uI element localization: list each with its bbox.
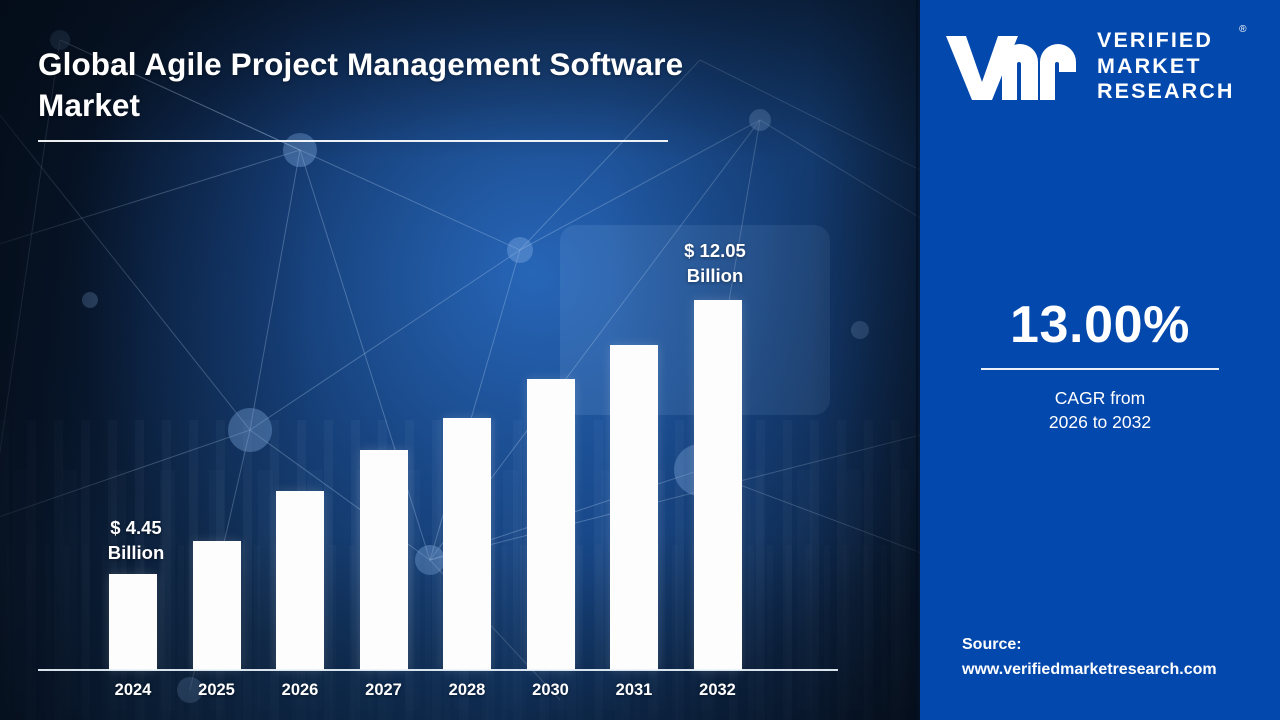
bar-2031	[610, 345, 658, 670]
bar-value-label-last-line1: $ 12.05	[640, 238, 790, 263]
x-axis-tick-2027: 2027	[360, 681, 408, 700]
brand-panel: VERIFIED MARKET RESEARCH ® 13.00% CAGR f…	[920, 0, 1280, 720]
market-infographic: Global Agile Project Management Software…	[0, 0, 1280, 720]
x-axis-tick-2024: 2024	[109, 681, 157, 700]
bar-value-label-first-line2: Billion	[61, 540, 211, 565]
bar-value-label-first-line1: $ 4.45	[61, 515, 211, 540]
brand-logo-line-2: MARKET	[1097, 54, 1234, 80]
bar-2028	[443, 418, 491, 670]
x-axis-tick-2026: 2026	[276, 681, 324, 700]
bar-2027	[360, 450, 408, 670]
registered-trademark-icon: ®	[1239, 25, 1246, 35]
brand-logo[interactable]: VERIFIED MARKET RESEARCH ®	[944, 26, 1262, 105]
bar-value-label-last-line2: Billion	[640, 263, 790, 288]
vmr-monogram-icon	[944, 32, 1084, 104]
bar-2026	[276, 491, 324, 670]
brand-logo-text: VERIFIED MARKET RESEARCH ®	[1097, 26, 1234, 105]
chart-plot-area	[0, 0, 920, 720]
brand-logo-line-1: VERIFIED	[1097, 28, 1234, 54]
source-block: Source: www.verifiedmarketresearch.com	[962, 632, 1262, 682]
cagr-divider	[981, 368, 1219, 370]
chart-panel: Global Agile Project Management Software…	[0, 0, 920, 720]
bar-2030	[527, 379, 575, 670]
x-axis-tick-2032: 2032	[694, 681, 742, 700]
bar-2024	[109, 574, 157, 670]
cagr-value: 13.00%	[920, 296, 1280, 354]
cagr-caption: CAGR from 2026 to 2032	[920, 386, 1280, 434]
brand-logo-line-3: RESEARCH	[1097, 79, 1234, 105]
x-axis-tick-2031: 2031	[610, 681, 658, 700]
bar-2032	[694, 300, 742, 670]
source-url[interactable]: www.verifiedmarketresearch.com	[962, 657, 1262, 682]
x-axis-tick-2030: 2030	[527, 681, 575, 700]
bar-value-label-first: $ 4.45 Billion	[61, 515, 211, 565]
bar-chart: $ 4.45 Billion $ 12.05 Billion 202420252…	[0, 0, 920, 720]
x-axis-line	[38, 669, 838, 671]
x-axis-tick-2025: 2025	[193, 681, 241, 700]
cagr-caption-line-1: CAGR from	[920, 386, 1280, 410]
cagr-block: 13.00% CAGR from 2026 to 2032	[920, 296, 1280, 434]
source-label: Source:	[962, 632, 1262, 657]
cagr-caption-line-2: 2026 to 2032	[920, 410, 1280, 434]
x-axis-tick-2028: 2028	[443, 681, 491, 700]
bar-value-label-last: $ 12.05 Billion	[640, 238, 790, 288]
